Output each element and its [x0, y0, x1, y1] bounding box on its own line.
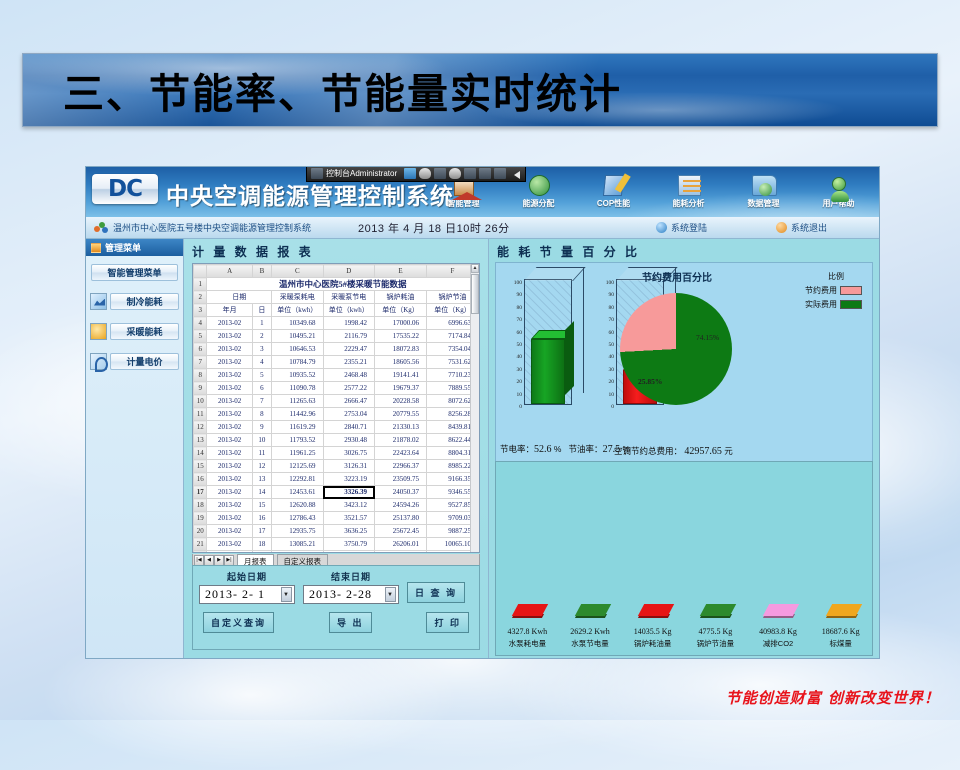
- hand-icon[interactable]: [479, 168, 491, 179]
- total-savings-value: 42957.65: [684, 446, 722, 457]
- cell-year-month[interactable]: 2013-02: [207, 356, 252, 369]
- keyboard-icon[interactable]: [494, 168, 506, 179]
- pie-legend: 节约费用 实际费用: [805, 285, 862, 313]
- header-pump-save[interactable]: 采暖泵节电: [323, 291, 375, 304]
- cell-pump-save[interactable]: 3026.75: [323, 447, 375, 460]
- total-savings-annotation: 空调节约总费用： 42957.65 元: [614, 445, 733, 457]
- row-number[interactable]: 22: [194, 551, 207, 554]
- table-row[interactable]: 142013-021111961.253026.7522423.648804.3…: [194, 447, 479, 460]
- sidebar-item-label: 制冷能耗: [110, 293, 179, 310]
- slide-slogan: 节能创造财富 创新改变世界！: [726, 687, 940, 708]
- grid-corner[interactable]: [194, 265, 207, 278]
- cell-year-month[interactable]: 2013-02: [207, 473, 252, 486]
- energy-percent-chart-area: 1009080706050403020100 10090807: [495, 262, 873, 462]
- cell-year-month[interactable]: 2013-02: [207, 395, 252, 408]
- measurement-value: 4327.8 Kwh: [496, 627, 559, 636]
- cell-pump-save[interactable]: 2577.22: [323, 382, 375, 395]
- pie-chart-title: 节约费用百分比: [642, 269, 712, 284]
- cell-pump-power[interactable]: 11090.78: [272, 382, 324, 395]
- bar3d-power[interactable]: [531, 339, 565, 404]
- cell-pump-save[interactable]: 3326.39: [323, 486, 375, 499]
- cell-day[interactable]: 5: [252, 369, 271, 382]
- measurement-name: 水泵耗电量: [496, 638, 559, 649]
- oil-rate-label: 节油率：: [569, 444, 603, 454]
- cell-pump-power[interactable]: 12453.61: [272, 486, 324, 499]
- cell-day[interactable]: 2: [252, 330, 271, 343]
- sidebar-item-electricity-price[interactable]: 计量电价: [90, 351, 179, 371]
- legend-label: 节约费用: [805, 285, 837, 296]
- start-date-field: 起始日期 2013- 2- 1 ▼: [199, 570, 295, 604]
- nav-item-user-help[interactable]: 用户帮助: [802, 169, 875, 209]
- cell-pump-save[interactable]: 2930.48: [323, 434, 375, 447]
- cell-year-month[interactable]: 2013-02: [207, 486, 252, 499]
- cell-year-month[interactable]: 2013-02: [207, 512, 252, 525]
- price-icon: [90, 353, 107, 370]
- cell-pump-save[interactable]: 1998.42: [323, 317, 375, 330]
- cell-pump-power[interactable]: 12620.88: [272, 499, 324, 512]
- cell-pump-power[interactable]: 11619.29: [272, 421, 324, 434]
- measurement-legend-item[interactable]: 18687.6 Kg标煤量: [809, 604, 872, 649]
- measurement-legend-item[interactable]: 14035.5 Kg锅炉耗油量: [621, 604, 684, 649]
- cell-boiler-oil[interactable]: 21330.13: [375, 421, 427, 434]
- user-icon: [824, 171, 854, 197]
- column-header-b[interactable]: B: [252, 265, 271, 278]
- cell-boiler-oil[interactable]: 26206.01: [375, 538, 427, 551]
- row-number[interactable]: 2: [194, 291, 207, 304]
- cell-pump-power[interactable]: 10784.79: [272, 356, 324, 369]
- app-logo: DC: [92, 174, 158, 204]
- cell-pump-save[interactable]: 3126.31: [323, 460, 375, 473]
- cell-boiler-oil[interactable]: 23509.75: [375, 473, 427, 486]
- row-number[interactable]: 12: [194, 421, 207, 434]
- menu-icon: [91, 243, 101, 253]
- row-number[interactable]: 16: [194, 473, 207, 486]
- measurement-name: 锅炉耗油量: [621, 638, 684, 649]
- report-table-body: 1 温州市中心医院5#楼采暖节能数据 2 日期 采暖泵耗电 采暖泵节电 锅炉耗油…: [194, 278, 479, 317]
- report-title: 计 量 数 据 报 表: [184, 239, 488, 263]
- cell-pump-save[interactable]: 2753.04: [323, 408, 375, 421]
- cell-pump-save[interactable]: 3842.93: [323, 551, 375, 554]
- control-console-toolbar[interactable]: 控制台Administrator: [306, 167, 526, 182]
- scroll-up-arrow[interactable]: ▲: [471, 264, 479, 273]
- start-date-label: 起始日期: [199, 570, 295, 583]
- table-row[interactable]: 92013-02611090.782577.2219679.377889.55: [194, 382, 479, 395]
- cell-pump-power[interactable]: 10349.68: [272, 317, 324, 330]
- cell-year-month[interactable]: 2013-02: [207, 343, 252, 356]
- table-row[interactable]: 82013-02510935.522468.4819141.417710.23: [194, 369, 479, 382]
- cell-day[interactable]: 12: [252, 460, 271, 473]
- chart-icon: [90, 293, 107, 310]
- cell-day[interactable]: 11: [252, 447, 271, 460]
- nav-item-cop-performance[interactable]: COP性能: [577, 169, 650, 209]
- slide-title-banner: 三、节能率、节能量实时统计: [22, 53, 938, 127]
- measurement-value: 40983.8 Kg: [747, 627, 810, 636]
- header-year-month[interactable]: 年月: [207, 304, 252, 317]
- cell-day[interactable]: 17: [252, 525, 271, 538]
- cell-boiler-oil[interactable]: 19141.41: [375, 369, 427, 382]
- table-row[interactable]: 3 年月 日 单位（kwh） 单位（kwh） 单位（Kg） 单位（Kg）: [194, 304, 479, 317]
- measurement-name: 锅炉节油量: [684, 638, 747, 649]
- row-number[interactable]: 3: [194, 304, 207, 317]
- pie-label-saved: 25.85%: [638, 377, 662, 386]
- cell-pump-save[interactable]: 3223.19: [323, 473, 375, 486]
- table-row[interactable]: 112013-02811442.962753.0420779.558256.28: [194, 408, 479, 421]
- nav-label: 能源分配: [502, 198, 575, 209]
- cell-day[interactable]: 14: [252, 486, 271, 499]
- cell-boiler-oil[interactable]: 25137.80: [375, 512, 427, 525]
- cell-boiler-oil[interactable]: 18605.56: [375, 356, 427, 369]
- sidebar-item-label: 采暖能耗: [110, 323, 179, 340]
- row-number[interactable]: 5: [194, 330, 207, 343]
- parallelogram-icon: [698, 604, 732, 621]
- row-number[interactable]: 15: [194, 460, 207, 473]
- cell-year-month[interactable]: 2013-02: [207, 408, 252, 421]
- cell-pump-power[interactable]: 10935.52: [272, 369, 324, 382]
- table-row[interactable]: 222013-021913257.073842.9326752.3710247.…: [194, 551, 479, 554]
- globe-icon: [524, 171, 554, 197]
- move-icon[interactable]: [464, 168, 476, 179]
- row-number[interactable]: 13: [194, 434, 207, 447]
- cell-pump-power[interactable]: 13085.21: [272, 538, 324, 551]
- table-row[interactable]: 42013-02110349.681998.4217000.066996.63: [194, 317, 479, 330]
- cell-year-month[interactable]: 2013-02: [207, 369, 252, 382]
- table-row[interactable]: 52013-02210495.212116.7917535.227174.84: [194, 330, 479, 343]
- book-icon: [674, 171, 704, 197]
- row-number[interactable]: 8: [194, 369, 207, 382]
- row-number[interactable]: 21: [194, 538, 207, 551]
- cell-boiler-oil[interactable]: 25672.45: [375, 525, 427, 538]
- drive-icon[interactable]: [434, 168, 446, 179]
- pie-label-actual: 74.15%: [696, 333, 719, 342]
- app-body: 管理菜单 智能管理菜单 制冷能耗 采暖能耗 计量电价 计 量 数 据 报 表: [86, 239, 879, 659]
- table-row[interactable]: 192013-021612786.433521.5725137.809709.0…: [194, 512, 479, 525]
- report-data-rows: 42013-02110349.681998.4217000.066996.635…: [194, 317, 479, 554]
- app-title: 中央空调能源管理控制系统: [166, 177, 454, 211]
- table-row[interactable]: 212013-021813085.213750.7926206.0110065.…: [194, 538, 479, 551]
- pen-icon: [599, 171, 629, 197]
- total-savings-label: 空调节约总费用：: [614, 446, 682, 456]
- cell-day[interactable]: 7: [252, 395, 271, 408]
- header-boiler-oil[interactable]: 锅炉耗油: [375, 291, 427, 304]
- cell-year-month[interactable]: 2013-02: [207, 538, 252, 551]
- cell-boiler-oil[interactable]: 22966.37: [375, 460, 427, 473]
- report-panel: 计 量 数 据 报 表 A B C D E F: [184, 239, 489, 659]
- day-query-button[interactable]: 日 查 询: [407, 582, 465, 603]
- row-number[interactable]: 7: [194, 356, 207, 369]
- current-datetime: 2013 年 4 月 18 日10时 26分: [358, 220, 510, 236]
- power-rate-value: 52.6: [534, 444, 552, 455]
- slide-title: 三、节能率、节能量实时统计: [23, 60, 622, 120]
- print-button[interactable]: 打 印: [426, 612, 469, 633]
- parallelogram-icon: [761, 604, 795, 621]
- row-number[interactable]: 14: [194, 447, 207, 460]
- row-number[interactable]: 9: [194, 382, 207, 395]
- cell-day[interactable]: 15: [252, 499, 271, 512]
- system-logout-link[interactable]: 系统退出: [776, 221, 827, 234]
- custom-query-button[interactable]: 自定义查询: [203, 612, 274, 633]
- sidebar-item-heating-consumption[interactable]: 采暖能耗: [90, 321, 179, 341]
- row-number[interactable]: 10: [194, 395, 207, 408]
- column-header-c[interactable]: C: [272, 265, 324, 278]
- legend-item-actual: 实际费用: [805, 299, 862, 310]
- cell-pump-save[interactable]: 2468.48: [323, 369, 375, 382]
- measurement-legend-item[interactable]: 40983.8 Kg减排CO2: [747, 604, 810, 649]
- cell-day[interactable]: 3: [252, 343, 271, 356]
- cell-pump-save[interactable]: 3521.57: [323, 512, 375, 525]
- nav-item-energy-analysis[interactable]: 能耗分析: [652, 169, 725, 209]
- cell-year-month[interactable]: 2013-02: [207, 421, 252, 434]
- end-date-field: 结束日期 2013- 2-28 ▼: [303, 570, 399, 604]
- query-date-row: 起始日期 2013- 2- 1 ▼ 结束日期 2013- 2-28 ▼ 日: [193, 566, 479, 604]
- legend-caption: 比例: [828, 271, 844, 282]
- query-controls: 起始日期 2013- 2- 1 ▼ 结束日期 2013- 2-28 ▼ 日: [192, 565, 480, 650]
- control-console-label: 控制台Administrator: [326, 168, 397, 179]
- cell-year-month[interactable]: 2013-02: [207, 382, 252, 395]
- cell-boiler-oil[interactable]: 19679.37: [375, 382, 427, 395]
- cell-pump-save[interactable]: 3423.12: [323, 499, 375, 512]
- column-header-e[interactable]: E: [375, 265, 427, 278]
- table-row[interactable]: 152013-021212125.693126.3122966.378985.2…: [194, 460, 479, 473]
- cell-day[interactable]: 19: [252, 551, 271, 554]
- folder-icon: [749, 171, 779, 197]
- cell-pump-power[interactable]: 13257.07: [272, 551, 324, 554]
- application-window: DC 中央空调能源管理控制系统 智能管理 能源分配 COP性能 能耗分析 数据管…: [85, 166, 880, 659]
- measurement-name: 减排CO2: [747, 638, 810, 649]
- cell-pump-save[interactable]: 2355.21: [323, 356, 375, 369]
- sheet-title-cell[interactable]: 温州市中心医院5#楼采暖节能数据: [207, 278, 479, 291]
- measurement-value: 4775.5 Kg: [684, 627, 747, 636]
- table-row[interactable]: 122013-02911619.292840.7121330.138439.81: [194, 421, 479, 434]
- cell-year-month[interactable]: 2013-02: [207, 460, 252, 473]
- mouse-icon[interactable]: [419, 168, 431, 179]
- cell-pump-power[interactable]: 12125.69: [272, 460, 324, 473]
- legend-item-saved: 节约费用: [805, 285, 862, 296]
- measurement-name: 标煤量: [809, 638, 872, 649]
- cell-boiler-oil[interactable]: 21878.02: [375, 434, 427, 447]
- pie-chart[interactable]: [620, 293, 732, 405]
- measurement-name: 水泵节电量: [559, 638, 622, 649]
- cell-year-month[interactable]: 2013-02: [207, 447, 252, 460]
- table-row[interactable]: 202013-021712935.753636.2525672.459887.2…: [194, 525, 479, 538]
- percent-sign: %: [554, 444, 562, 454]
- export-button[interactable]: 导 出: [329, 612, 372, 633]
- table-row[interactable]: 1 温州市中心医院5#楼采暖节能数据: [194, 278, 479, 291]
- cell-day[interactable]: 1: [252, 317, 271, 330]
- cell-pump-power[interactable]: 11442.96: [272, 408, 324, 421]
- cell-pump-save[interactable]: 2840.71: [323, 421, 375, 434]
- cell-day[interactable]: 16: [252, 512, 271, 525]
- parallelogram-top: [575, 604, 611, 616]
- cell-day[interactable]: 9: [252, 421, 271, 434]
- monitor-icon: [311, 168, 323, 179]
- parallelogram-icon: [510, 604, 544, 621]
- y-axis-ticks: 1009080706050403020100: [506, 279, 522, 415]
- sidebar-header-label: 管理菜单: [105, 241, 141, 254]
- cell-pump-power[interactable]: 11961.25: [272, 447, 324, 460]
- path-status-bar: 温州市中心医院五号楼中央空调能源管理控制系统 2013 年 4 月 18 日10…: [86, 217, 879, 239]
- header-unit-e[interactable]: 单位（Kg）: [375, 304, 427, 317]
- parallelogram-icon: [573, 604, 607, 621]
- vertical-scrollbar[interactable]: ▲: [470, 264, 479, 552]
- measurement-bar-chart-area: 4327.8 Kwh水泵耗电量2629.2 Kwh水泵节电量14035.5 Kg…: [495, 461, 873, 656]
- sidebar-header: 管理菜单: [86, 239, 183, 256]
- pointer-icon[interactable]: [449, 168, 461, 179]
- cell-day[interactable]: 4: [252, 356, 271, 369]
- sun-icon: [90, 323, 107, 340]
- pie-chart-area: 节约费用百分比 比例 节约费用 实际费用 74.15%: [608, 267, 868, 459]
- row-number[interactable]: 4: [194, 317, 207, 330]
- cell-pump-power[interactable]: 11793.52: [272, 434, 324, 447]
- measurement-legend-item[interactable]: 2629.2 Kwh水泵节电量: [559, 604, 622, 649]
- column-header-row: A B C D E F: [194, 265, 479, 278]
- cell-pump-power[interactable]: 12292.81: [272, 473, 324, 486]
- header-date[interactable]: 日期: [207, 291, 272, 304]
- sidebar-item-label: 计量电价: [110, 353, 179, 370]
- logout-icon: [776, 222, 787, 233]
- cell-year-month[interactable]: 2013-02: [207, 551, 252, 554]
- table-row[interactable]: 172013-021412453.613326.3924050.379346.5…: [194, 486, 479, 499]
- cell-pump-save[interactable]: 2116.79: [323, 330, 375, 343]
- scrollbar-thumb[interactable]: [471, 274, 479, 314]
- header-day[interactable]: 日: [252, 304, 271, 317]
- cell-boiler-oil[interactable]: 24050.37: [375, 486, 427, 499]
- cell-day[interactable]: 10: [252, 434, 271, 447]
- report-table: A B C D E F 1 温州市中心医院5#楼采暖节能数据: [193, 264, 479, 553]
- cell-boiler-oil[interactable]: 17535.22: [375, 330, 427, 343]
- sidebar-item-cooling-consumption[interactable]: 制冷能耗: [90, 291, 179, 311]
- chevron-down-icon[interactable]: ▼: [385, 587, 396, 602]
- cell-pump-power[interactable]: 10495.21: [272, 330, 324, 343]
- cell-year-month[interactable]: 2013-02: [207, 434, 252, 447]
- nav-label: COP性能: [577, 198, 650, 209]
- cell-day[interactable]: 6: [252, 382, 271, 395]
- bar-side-face: [565, 321, 574, 395]
- system-login-label: 系统登陆: [671, 221, 707, 234]
- cell-pump-power[interactable]: 11265.63: [272, 395, 324, 408]
- app-header: DC 中央空调能源管理控制系统 智能管理 能源分配 COP性能 能耗分析 数据管…: [86, 167, 879, 217]
- cell-year-month[interactable]: 2013-02: [207, 525, 252, 538]
- cell-day[interactable]: 8: [252, 408, 271, 421]
- legend-label: 实际费用: [805, 299, 837, 310]
- sidebar-item-smart-menu[interactable]: 智能管理菜单: [91, 264, 178, 281]
- cell-boiler-oil[interactable]: 24594.26: [375, 499, 427, 512]
- row-number[interactable]: 1: [194, 278, 207, 291]
- measurement-legend-item[interactable]: 4327.8 Kwh水泵耗电量: [496, 604, 559, 649]
- cell-pump-save[interactable]: 3636.25: [323, 525, 375, 538]
- cell-year-month[interactable]: 2013-02: [207, 499, 252, 512]
- measurement-value: 2629.2 Kwh: [559, 627, 622, 636]
- parallelogram-top: [763, 604, 799, 616]
- bar3d-frame: [524, 279, 572, 405]
- system-logout-label: 系统退出: [791, 221, 827, 234]
- row-number[interactable]: 20: [194, 525, 207, 538]
- table-row[interactable]: 102013-02711265.632666.4720228.588072.62: [194, 395, 479, 408]
- measurement-legend: 4327.8 Kwh水泵耗电量2629.2 Kwh水泵节电量14035.5 Kg…: [496, 604, 872, 649]
- parallelogram-top: [637, 604, 673, 616]
- header-unit-c[interactable]: 单位（kwh）: [272, 304, 324, 317]
- cell-boiler-oil[interactable]: 26752.37: [375, 551, 427, 554]
- table-row[interactable]: 182013-021512620.883423.1224594.269527.8…: [194, 499, 479, 512]
- sidebar: 管理菜单 智能管理菜单 制冷能耗 采暖能耗 计量电价: [86, 239, 184, 659]
- header-unit-d[interactable]: 单位（kwh）: [323, 304, 375, 317]
- nav-label: 数据管理: [727, 198, 800, 209]
- cell-boiler-oil[interactable]: 20779.55: [375, 408, 427, 421]
- login-icon: [656, 222, 667, 233]
- table-row[interactable]: 132013-021011793.522930.4821878.028622.4…: [194, 434, 479, 447]
- cell-boiler-oil[interactable]: 20228.58: [375, 395, 427, 408]
- column-header-d[interactable]: D: [323, 265, 375, 278]
- row-number[interactable]: 19: [194, 512, 207, 525]
- site-name: 温州市中心医院五号楼中央空调能源管理控制系统: [113, 221, 311, 234]
- legend-swatch: [840, 300, 862, 309]
- total-savings-unit: 元: [724, 446, 733, 456]
- header-pump-power[interactable]: 采暖泵耗电: [272, 291, 324, 304]
- start-date-value: 2013- 2- 1: [205, 587, 265, 602]
- query-action-row: 自定义查询 导 出 打 印: [193, 604, 479, 633]
- cell-pump-save[interactable]: 2229.47: [323, 343, 375, 356]
- cell-year-month[interactable]: 2013-02: [207, 317, 252, 330]
- row-number[interactable]: 17: [194, 486, 207, 499]
- nav-item-data-management[interactable]: 数据管理: [727, 169, 800, 209]
- site-icon: [94, 222, 108, 234]
- parallelogram-top: [825, 604, 861, 616]
- row-number[interactable]: 6: [194, 343, 207, 356]
- bar3d-power-unit: 1009080706050403020100: [506, 273, 590, 423]
- row-number[interactable]: 18: [194, 499, 207, 512]
- parallelogram-icon: [824, 604, 858, 621]
- cell-pump-power[interactable]: 10646.53: [272, 343, 324, 356]
- end-date-label: 结束日期: [303, 570, 399, 583]
- legend-swatch: [840, 286, 862, 295]
- end-date-input[interactable]: 2013- 2-28 ▼: [303, 585, 399, 604]
- cell-pump-power[interactable]: 12786.43: [272, 512, 324, 525]
- cell-pump-save[interactable]: 2666.47: [323, 395, 375, 408]
- power-rate-label: 节电率：: [500, 444, 534, 454]
- energy-percent-title: 能 耗 节 量 百 分 比: [489, 239, 879, 262]
- cell-day[interactable]: 13: [252, 473, 271, 486]
- bar-front-face: [531, 339, 565, 404]
- table-row[interactable]: 62013-02310646.532229.4718072.837354.04: [194, 343, 479, 356]
- measurement-value: 18687.6 Kg: [809, 627, 872, 636]
- cell-boiler-oil[interactable]: 17000.06: [375, 317, 427, 330]
- cell-pump-save[interactable]: 3750.79: [323, 538, 375, 551]
- spreadsheet-grid[interactable]: A B C D E F 1 温州市中心医院5#楼采暖节能数据: [192, 263, 480, 553]
- monitor-icon[interactable]: [404, 168, 416, 179]
- start-date-input[interactable]: 2013- 2- 1 ▼: [199, 585, 295, 604]
- table-row[interactable]: 2 日期 采暖泵耗电 采暖泵节电 锅炉耗油 锅炉节油: [194, 291, 479, 304]
- row-number[interactable]: 11: [194, 408, 207, 421]
- cell-boiler-oil[interactable]: 18072.83: [375, 343, 427, 356]
- cell-year-month[interactable]: 2013-02: [207, 330, 252, 343]
- measurement-legend-item[interactable]: 4775.5 Kg锅炉节油量: [684, 604, 747, 649]
- table-row[interactable]: 162013-021312292.813223.1923509.759166.3…: [194, 473, 479, 486]
- measurement-value: 14035.5 Kg: [621, 627, 684, 636]
- table-row[interactable]: 72013-02410784.792355.2118605.567531.62: [194, 356, 479, 369]
- system-login-link[interactable]: 系统登陆: [656, 221, 707, 234]
- cell-boiler-oil[interactable]: 22423.64: [375, 447, 427, 460]
- chevron-down-icon[interactable]: ▼: [281, 587, 292, 602]
- end-date-value: 2013- 2-28: [309, 587, 372, 602]
- speaker-icon[interactable]: [509, 168, 521, 179]
- parallelogram-icon: [636, 604, 670, 621]
- column-header-a[interactable]: A: [207, 265, 252, 278]
- charts-panel: 能 耗 节 量 百 分 比 1009080706050403020100: [489, 239, 879, 659]
- cell-pump-power[interactable]: 12935.75: [272, 525, 324, 538]
- cell-day[interactable]: 18: [252, 538, 271, 551]
- nav-label: 能耗分析: [652, 198, 725, 209]
